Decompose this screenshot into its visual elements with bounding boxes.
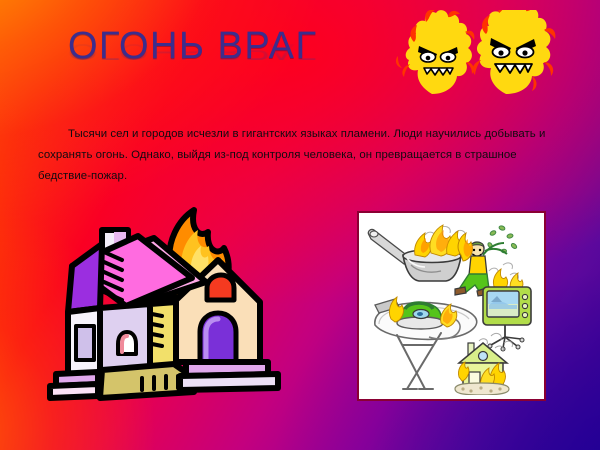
burning-house-clipart xyxy=(42,202,292,404)
slide-title-block: ОГОНЬ ВРАГ ОГОНЬ ВРАГ xyxy=(68,24,398,100)
house-window-red xyxy=(207,275,234,300)
burning-frying-pan-icon xyxy=(368,225,465,281)
fire-hazards-svg xyxy=(363,217,540,395)
page-title-reflection: ОГОНЬ ВРАГ xyxy=(68,38,398,65)
fire-hazards-photo-frame xyxy=(357,211,546,401)
burning-television-icon xyxy=(483,263,531,351)
person-on-fire-icon xyxy=(455,225,518,296)
burning-small-house-icon xyxy=(455,333,512,395)
slide-body-text: Тысячи сел и городов исчезли в гигантски… xyxy=(38,124,568,187)
flame-mascots-svg xyxy=(396,10,556,98)
flame-mascots-group xyxy=(396,10,556,98)
house-step-left-lower xyxy=(50,384,98,398)
flame-mascot-right-icon xyxy=(473,10,556,94)
fire-hazards-photo xyxy=(363,217,540,395)
house-gable-purple xyxy=(68,244,102,312)
presentation-slide: ОГОНЬ ВРАГ ОГОНЬ ВРАГ xyxy=(0,0,600,450)
flame-mascot-left-icon xyxy=(396,10,474,94)
burning-house-svg xyxy=(42,202,292,404)
house-step-right-lower xyxy=(180,374,278,390)
